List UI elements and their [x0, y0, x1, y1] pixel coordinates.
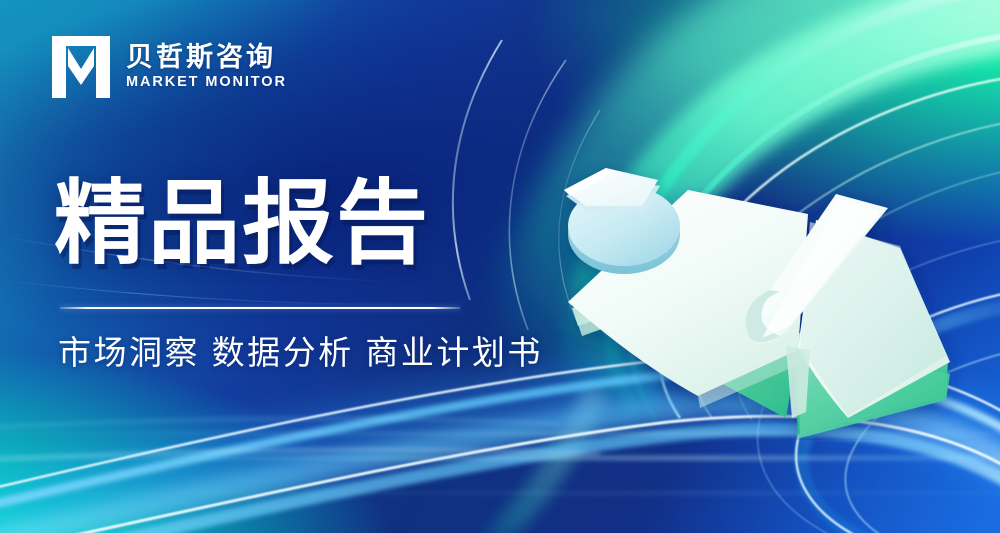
title-divider	[60, 307, 460, 309]
brand-logo: 贝哲斯咨询 MARKET MONITOR	[52, 36, 287, 98]
brand-name-cn: 贝哲斯咨询	[126, 43, 287, 71]
brand-name-en: MARKET MONITOR	[126, 75, 287, 91]
brand-logo-text: 贝哲斯咨询 MARKET MONITOR	[126, 43, 287, 90]
headline-block: 精品报告	[54, 178, 430, 270]
report-cover-banner: 贝哲斯咨询 MARKET MONITOR 精品报告 市场洞察 数据分析 商业计划…	[0, 0, 1000, 533]
market-monitor-m-mark-icon	[52, 36, 110, 98]
page-title: 精品报告	[54, 178, 430, 270]
open-book-illustration	[548, 150, 968, 440]
page-subtitle: 市场洞察 数据分析 商业计划书	[58, 332, 543, 375]
pie-chart-disc	[564, 168, 680, 274]
